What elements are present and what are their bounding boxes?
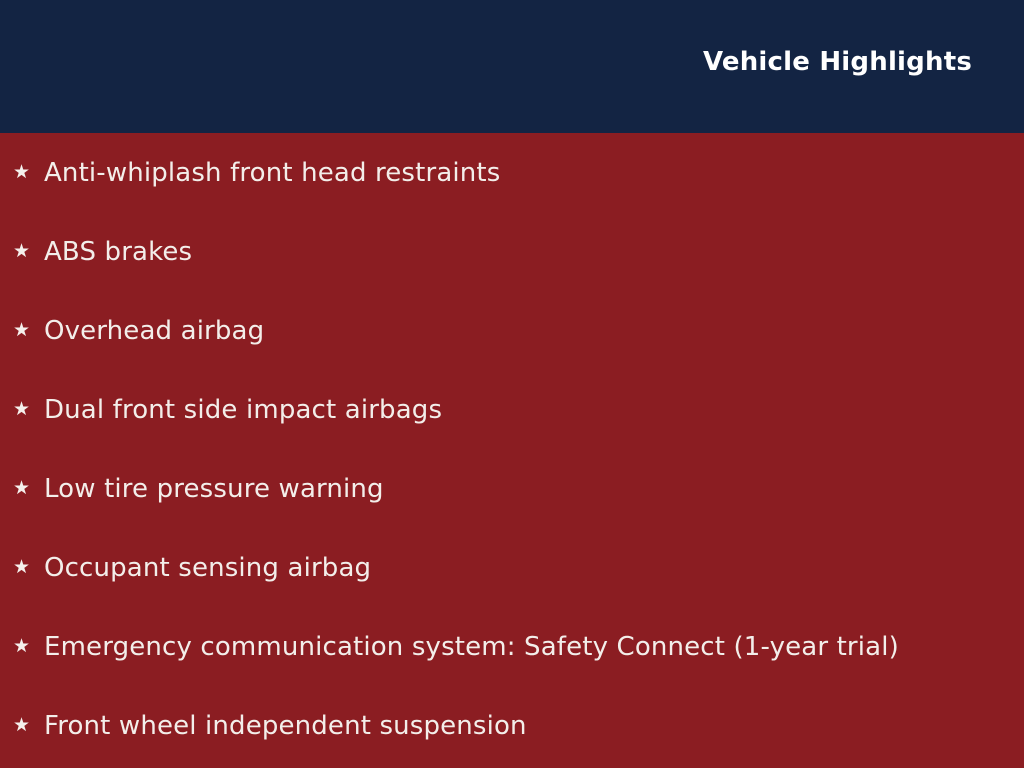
star-icon: ★ bbox=[13, 479, 44, 498]
list-item-label: Low tire pressure warning bbox=[44, 473, 384, 505]
list-item: ★ Emergency communication system: Safety… bbox=[0, 607, 1024, 686]
star-icon: ★ bbox=[13, 242, 44, 261]
list-item: ★ ABS brakes bbox=[0, 212, 1024, 291]
star-icon: ★ bbox=[13, 716, 44, 735]
list-item-label: Overhead airbag bbox=[44, 315, 264, 347]
list-item-label: Anti-whiplash front head restraints bbox=[44, 157, 500, 189]
list-item: ★ Occupant sensing airbag bbox=[0, 528, 1024, 607]
list-item: ★ Dual front side impact airbags bbox=[0, 370, 1024, 449]
slide-vehicle-highlights: Vehicle Highlights ★ Anti-whiplash front… bbox=[0, 0, 1024, 768]
list-item-label: Dual front side impact airbags bbox=[44, 394, 442, 426]
list-item: ★ Anti-whiplash front head restraints bbox=[0, 133, 1024, 212]
page-title: Vehicle Highlights bbox=[703, 47, 1024, 87]
star-icon: ★ bbox=[13, 163, 44, 182]
list-item-label: Front wheel independent suspension bbox=[44, 710, 527, 742]
list-item-label: Occupant sensing airbag bbox=[44, 552, 371, 584]
slide-header: Vehicle Highlights bbox=[0, 0, 1024, 133]
list-item: ★ Overhead airbag bbox=[0, 291, 1024, 370]
list-item-label: ABS brakes bbox=[44, 236, 192, 268]
slide-body: ★ Anti-whiplash front head restraints ★ … bbox=[0, 133, 1024, 768]
star-icon: ★ bbox=[13, 637, 44, 656]
list-item-label: Emergency communication system: Safety C… bbox=[44, 631, 899, 663]
star-icon: ★ bbox=[13, 321, 44, 340]
list-item: ★ Front wheel independent suspension bbox=[0, 686, 1024, 765]
list-item: ★ Low tire pressure warning bbox=[0, 449, 1024, 528]
vehicle-highlights-list: ★ Anti-whiplash front head restraints ★ … bbox=[0, 133, 1024, 765]
star-icon: ★ bbox=[13, 558, 44, 577]
star-icon: ★ bbox=[13, 400, 44, 419]
